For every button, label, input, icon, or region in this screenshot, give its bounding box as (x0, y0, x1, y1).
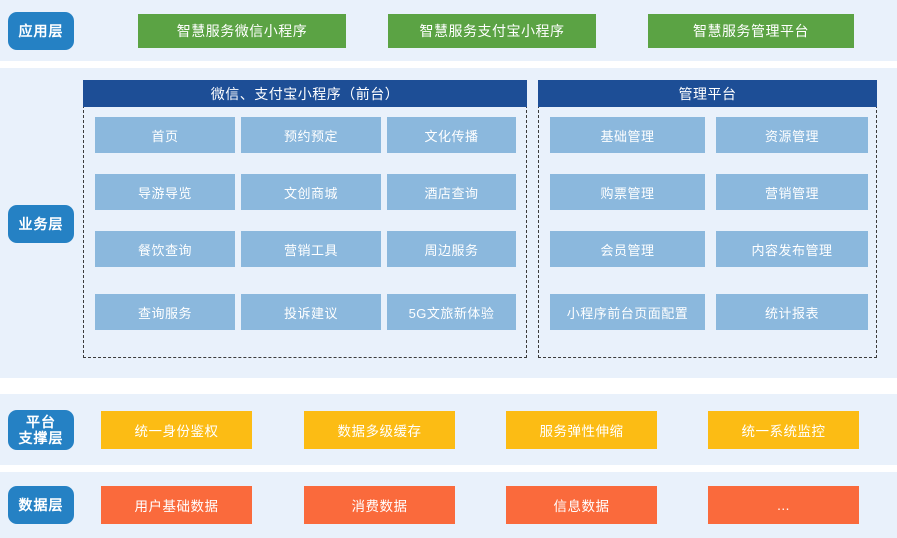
business-cell[interactable]: 投诉建议 (241, 294, 381, 330)
layer-label-business: 业务层 (8, 205, 74, 243)
business-cell[interactable]: 内容发布管理 (716, 231, 868, 267)
layer-label-platform-line1: 平台 (26, 414, 56, 430)
data-item-more[interactable]: ... (708, 486, 859, 524)
business-cell[interactable]: 查询服务 (95, 294, 235, 330)
business-cell[interactable]: 5G文旅新体验 (387, 294, 516, 330)
platform-item-system-monitoring[interactable]: 统一系统监控 (708, 411, 859, 449)
business-cell[interactable]: 购票管理 (550, 174, 705, 210)
business-cell[interactable]: 文创商城 (241, 174, 381, 210)
business-cell[interactable]: 文化传播 (387, 117, 516, 153)
business-cell[interactable]: 酒店查询 (387, 174, 516, 210)
application-item-management-platform[interactable]: 智慧服务管理平台 (648, 14, 854, 48)
business-cell[interactable]: 餐饮查询 (95, 231, 235, 267)
data-item-information-data[interactable]: 信息数据 (506, 486, 657, 524)
layer-label-platform-line2: 支撑层 (19, 430, 64, 446)
business-panel-management-header: 管理平台 (538, 80, 877, 107)
business-cell[interactable]: 资源管理 (716, 117, 868, 153)
data-item-user-base-data[interactable]: 用户基础数据 (101, 486, 252, 524)
layer-label-data: 数据层 (8, 486, 74, 524)
business-cell[interactable]: 营销管理 (716, 174, 868, 210)
platform-item-unified-auth[interactable]: 统一身份鉴权 (101, 411, 252, 449)
business-cell[interactable]: 基础管理 (550, 117, 705, 153)
platform-item-multilevel-cache[interactable]: 数据多级缓存 (304, 411, 455, 449)
business-cell[interactable]: 导游导览 (95, 174, 235, 210)
business-cell[interactable]: 周边服务 (387, 231, 516, 267)
layer-label-platform: 平台 支撑层 (8, 410, 74, 450)
application-item-wechat-miniprogram[interactable]: 智慧服务微信小程序 (138, 14, 346, 48)
platform-item-elastic-scaling[interactable]: 服务弹性伸缩 (506, 411, 657, 449)
business-cell[interactable]: 小程序前台页面配置 (550, 294, 705, 330)
business-cell[interactable]: 营销工具 (241, 231, 381, 267)
data-item-consumption-data[interactable]: 消费数据 (304, 486, 455, 524)
layer-label-application: 应用层 (8, 12, 74, 50)
business-cell[interactable]: 统计报表 (716, 294, 868, 330)
business-panel-miniprogram-header: 微信、支付宝小程序（前台） (83, 80, 527, 107)
application-item-alipay-miniprogram[interactable]: 智慧服务支付宝小程序 (388, 14, 596, 48)
business-cell[interactable]: 首页 (95, 117, 235, 153)
business-cell[interactable]: 会员管理 (550, 231, 705, 267)
business-cell[interactable]: 预约预定 (241, 117, 381, 153)
